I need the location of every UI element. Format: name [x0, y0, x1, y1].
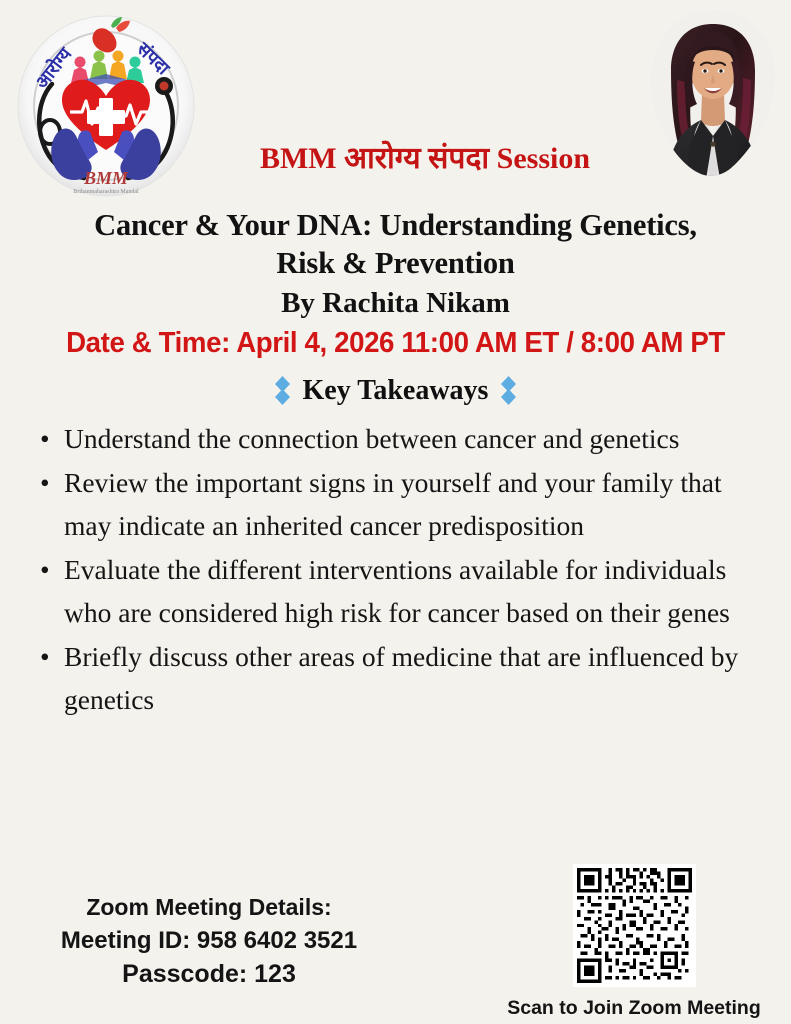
list-item-text: Evaluate the different interventions ava… — [64, 554, 730, 628]
bullet-icon: • — [40, 461, 50, 504]
page-title-line-1: Cancer & Your DNA: Understanding Genetic… — [18, 206, 773, 244]
zoom-details-heading: Zoom Meeting Details: — [44, 891, 374, 924]
bullet-icon: • — [40, 548, 50, 591]
portrait-graphic — [649, 8, 777, 186]
list-item-text: Review the important signs in yourself a… — [64, 467, 722, 541]
date-time-line: Date & Time: April 4, 2026 11:00 AM ET /… — [29, 325, 761, 361]
bullet-icon: • — [40, 635, 50, 678]
title-block: Cancer & Your DNA: Understanding Genetic… — [0, 206, 791, 361]
presenter-portrait — [649, 8, 777, 186]
list-item-text: Understand the connection between cancer… — [64, 423, 679, 454]
session-title: BMM आरोग्य संपदा Session — [205, 136, 645, 177]
list-item: • Understand the connection between canc… — [34, 417, 769, 460]
presenter-name: By Rachita Nikam — [18, 284, 773, 322]
qr-code-caption: Scan to Join Zoom Meeting — [499, 997, 769, 1020]
logo-graphic: आरोग्य संपदा — [14, 12, 199, 200]
page-title: Cancer & Your DNA: Understanding Genetic… — [18, 206, 773, 282]
diamond-icon-right — [500, 376, 517, 406]
key-takeaways-list: • Understand the connection between canc… — [0, 417, 791, 721]
list-item-text: Briefly discuss other areas of medicine … — [64, 641, 738, 715]
qr-code-icon[interactable] — [573, 864, 696, 987]
zoom-passcode: Passcode: 123 — [44, 957, 374, 991]
footer: Zoom Meeting Details: Meeting ID: 958 64… — [0, 859, 791, 1024]
list-item: • Briefly discuss other areas of medicin… — [34, 635, 769, 721]
diamond-icon-left — [274, 376, 291, 406]
organization-logo: आरोग्य संपदा — [14, 12, 199, 200]
flyer-page: आरोग्य संपदा — [0, 0, 791, 1024]
svg-text:BMM: BMM — [83, 168, 129, 188]
key-takeaways-heading: Key Takeaways — [0, 375, 791, 407]
bullet-icon: • — [40, 417, 50, 460]
zoom-meeting-details: Zoom Meeting Details: Meeting ID: 958 64… — [44, 891, 374, 991]
zoom-meeting-id: Meeting ID: 958 6402 3521 — [44, 924, 374, 957]
svg-text:Brihanmaharashtra Mandal: Brihanmaharashtra Mandal — [73, 189, 139, 195]
list-item: • Evaluate the different interventions a… — [34, 548, 769, 634]
qr-code-block[interactable]: Scan to Join Zoom Meeting — [499, 864, 769, 1020]
list-item: • Review the important signs in yourself… — [34, 461, 769, 547]
header: आरोग्य संपदा — [0, 0, 791, 200]
page-title-line-2: Risk & Prevention — [18, 244, 773, 282]
key-takeaways-label: Key Takeaways — [303, 375, 489, 407]
